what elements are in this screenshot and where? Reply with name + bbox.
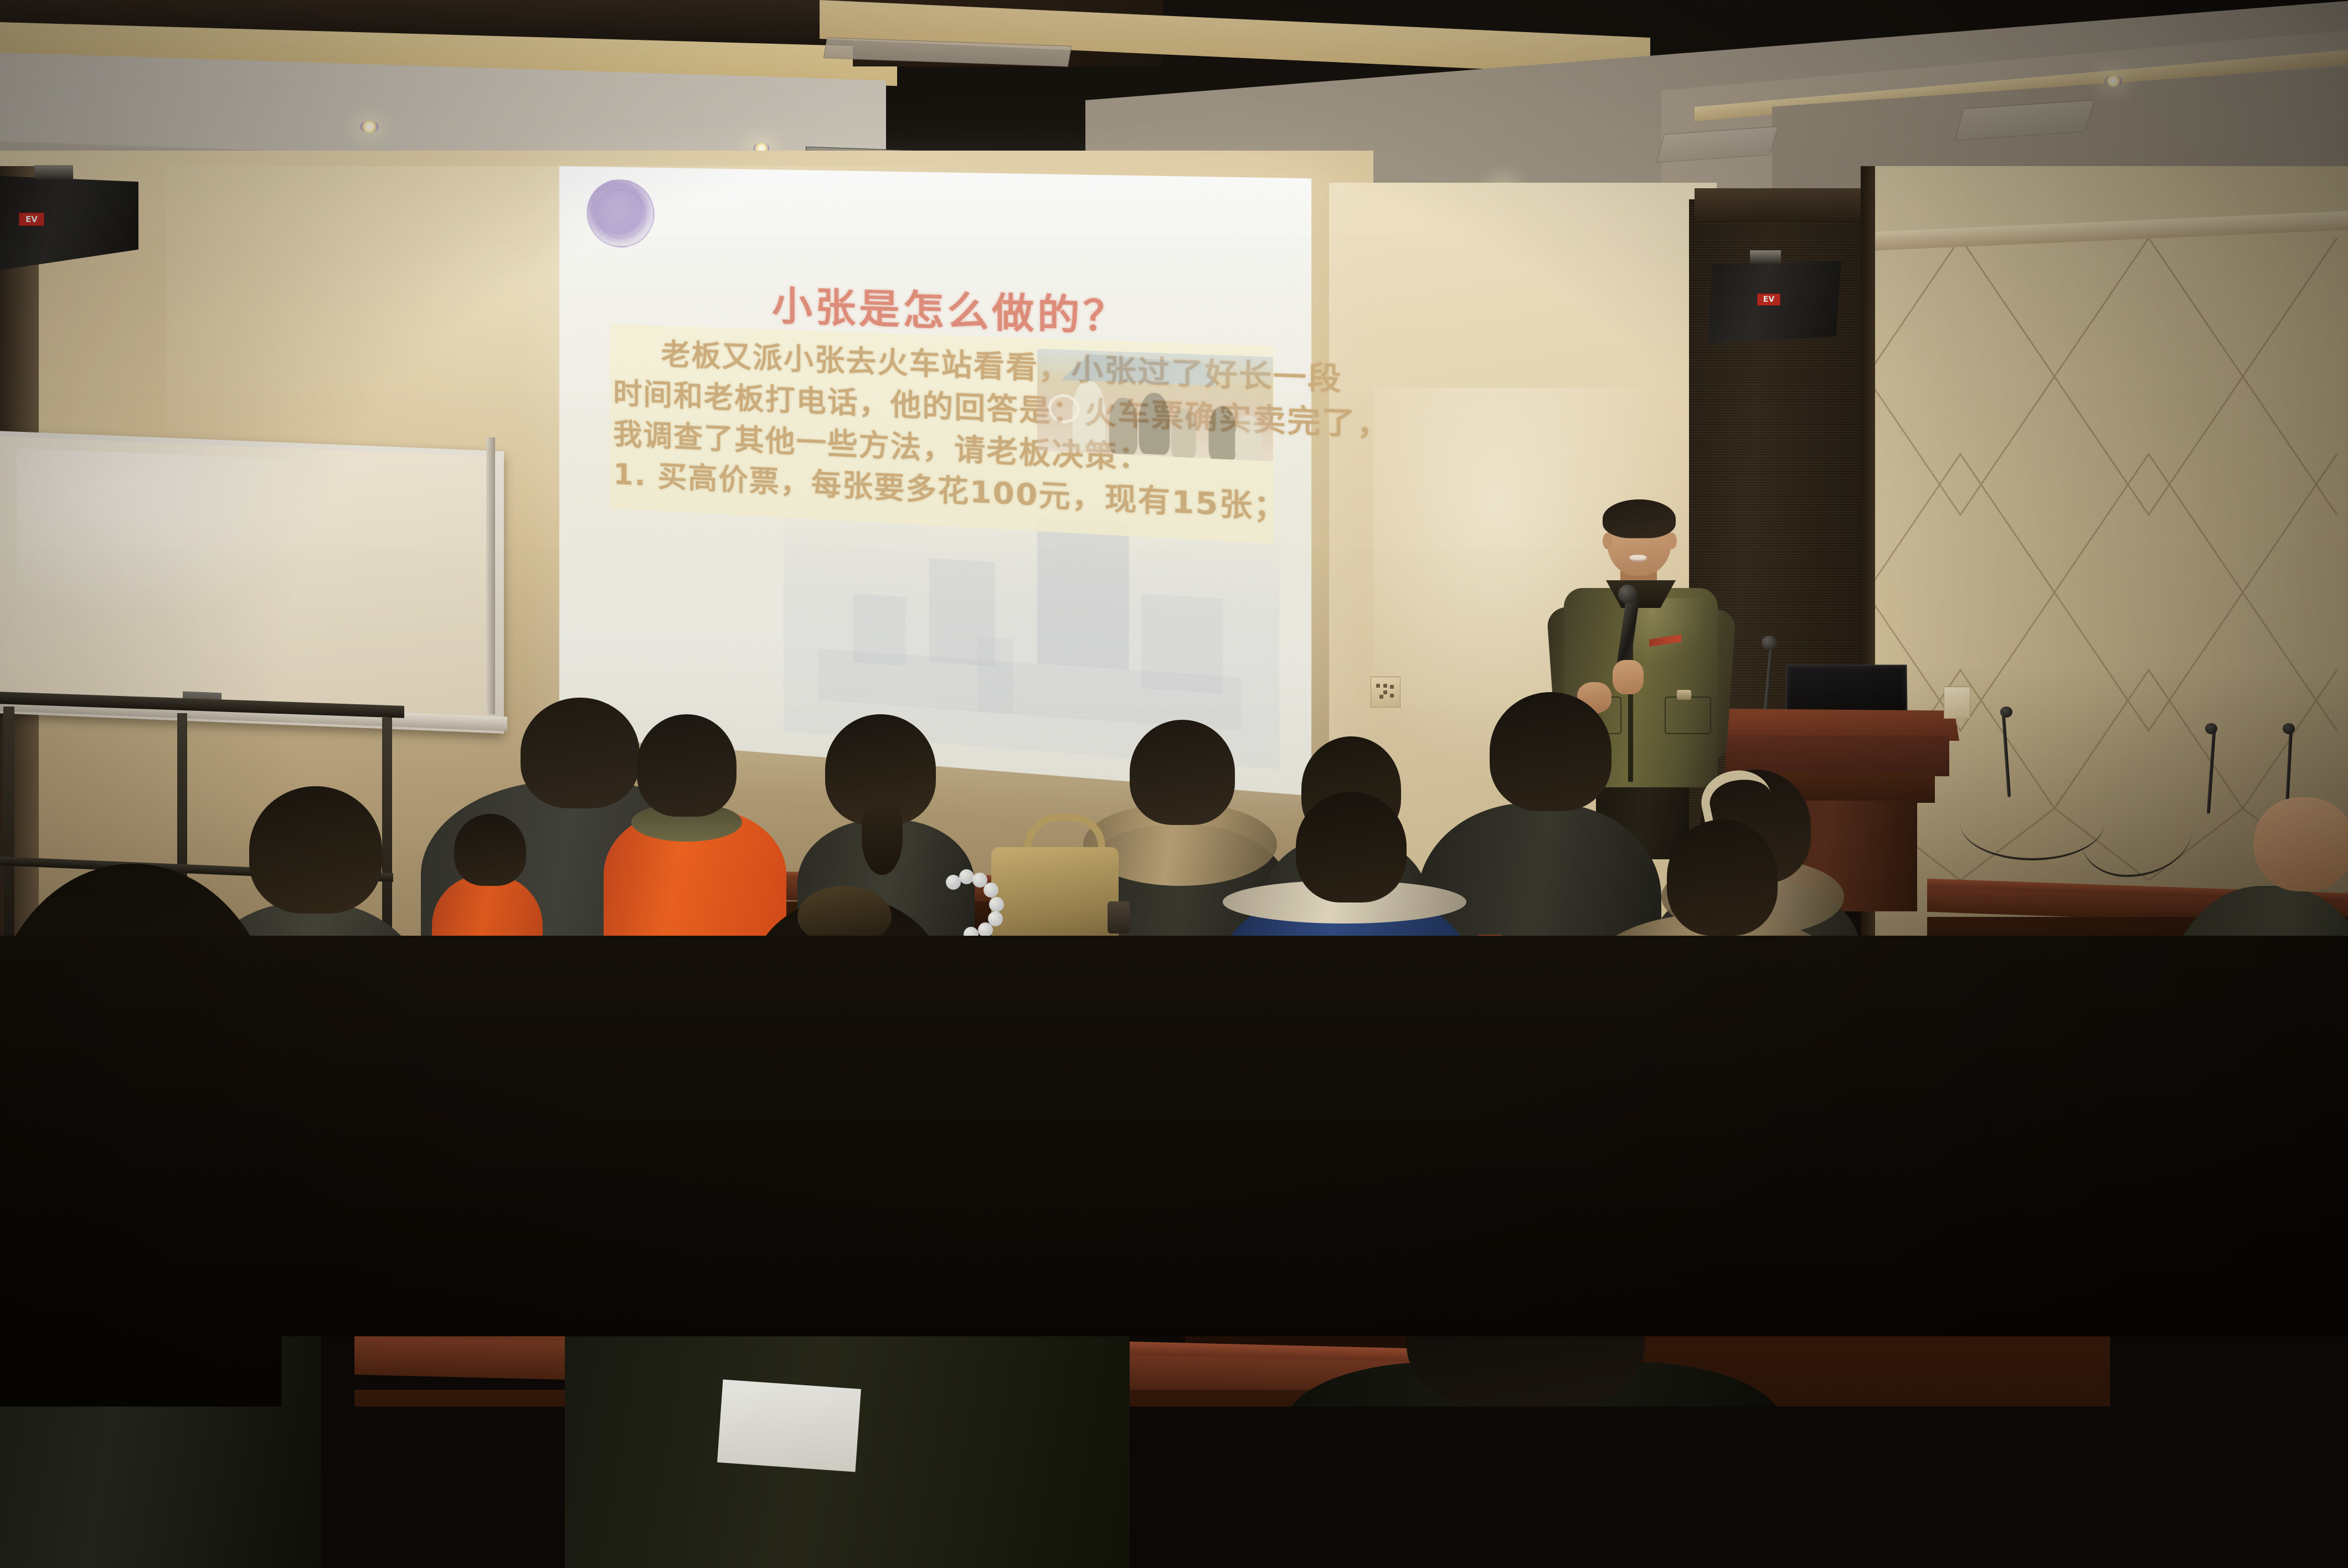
presenter-mouth (1629, 555, 1647, 562)
presenter-jacket-highlight (1628, 598, 1706, 664)
wall-power-outlet (1371, 677, 1400, 708)
podium-microphone-icon (1762, 636, 1777, 650)
raised-hand (2254, 797, 2348, 891)
presenter-jacket-pocket (1665, 697, 1711, 734)
table-microphone-icon (2283, 723, 2295, 734)
whiteboard-glare (17, 448, 327, 627)
speaker-brand-badge: EV (1757, 293, 1780, 306)
presenter-ear (1667, 533, 1677, 549)
laptop-screen (1790, 668, 1903, 713)
presenter-hand-holding-mic (1613, 660, 1644, 694)
whiteboard (0, 431, 504, 734)
handheld-microphone-capsule (1618, 585, 1637, 604)
speaker-brand-badge: EV (19, 213, 44, 226)
ceiling-downlight-icon (360, 121, 379, 133)
slide-seal-inner-ring (596, 189, 645, 239)
speaker-bracket-left (34, 165, 73, 179)
presenter-wristwatch (1677, 690, 1691, 700)
table-microphone-icon (2000, 706, 2012, 718)
table-microphone-icon (2205, 723, 2217, 734)
ceiling-downlight-icon (2104, 75, 2122, 87)
dark-column-cap (1695, 188, 1872, 221)
presenter-hair (1603, 499, 1676, 538)
slide-photo-train-station (1037, 349, 1273, 462)
speaker-bracket-right (1750, 250, 1781, 264)
floor (0, 936, 2348, 1568)
presenter-ear (1603, 533, 1613, 549)
wall-speaker-right: EV (1708, 261, 1841, 343)
whiteboard-frame-right (486, 437, 495, 714)
wall-light-switch[interactable] (1944, 687, 1970, 719)
lecture-hall-screenshot: EV EV 小张是怎么做的？ 老板又派小张去火车站看看，小张过了好长一段 时间和… (0, 0, 2348, 1568)
